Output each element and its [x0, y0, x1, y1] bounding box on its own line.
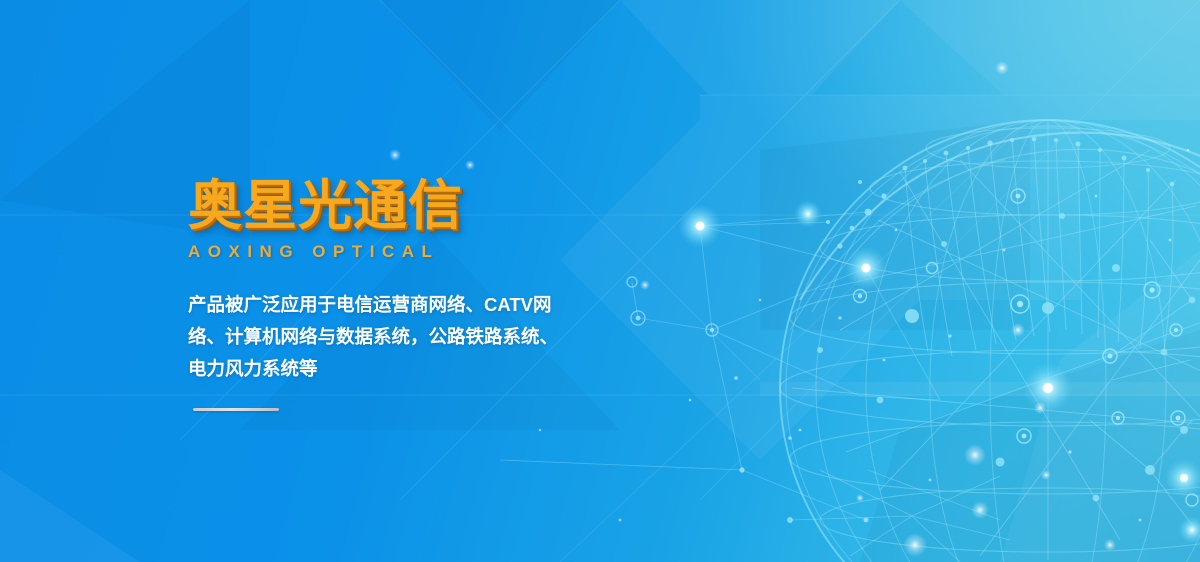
brand-subtitle: AOXING OPTICAL	[188, 242, 608, 262]
description-line-2: 络、计算机网络与数据系统，公路铁路系统、	[188, 321, 596, 353]
description-text: 产品被广泛应用于电信运营商网络、CATV网 络、计算机网络与数据系统，公路铁路系…	[188, 289, 596, 385]
description-line-1: 产品被广泛应用于电信运营商网络、CATV网	[188, 289, 596, 321]
divider-rule	[193, 408, 279, 411]
page-title: 奥星光通信	[188, 178, 608, 235]
description-line-3: 电力风力系统等	[188, 353, 596, 385]
hero-banner: 奥星光通信 AOXING OPTICAL 产品被广泛应用于电信运营商网络、CAT…	[0, 0, 1200, 562]
banner-content: 奥星光通信 AOXING OPTICAL 产品被广泛应用于电信运营商网络、CAT…	[188, 178, 608, 411]
